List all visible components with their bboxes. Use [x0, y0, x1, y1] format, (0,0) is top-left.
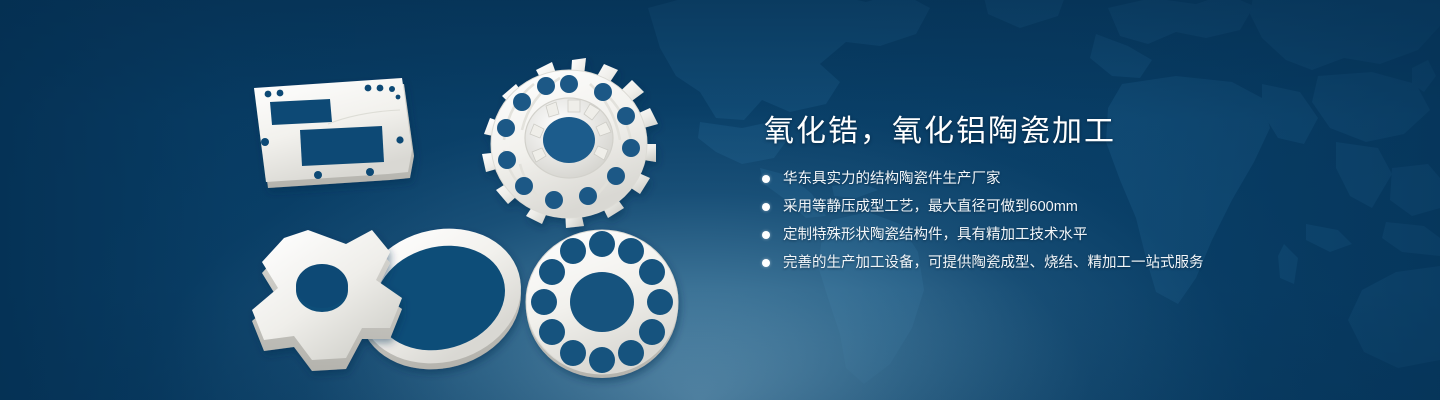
feature-item: 完善的生产加工设备，可提供陶瓷成型、烧结、精加工一站式服务 [762, 252, 1322, 274]
ceramic-perforated-disc [526, 230, 678, 378]
hero-banner: 氧化锆，氧化铝陶瓷加工 华东具实力的结构陶瓷件生产厂家 采用等静压成型工艺，最大… [0, 0, 1440, 400]
feature-text: 完善的生产加工设备，可提供陶瓷成型、烧结、精加工一站式服务 [783, 252, 1204, 274]
bullet-dot-icon [762, 175, 770, 183]
feature-text: 定制特殊形状陶瓷结构件，具有精加工技术水平 [783, 224, 1088, 246]
ceramic-products-image [232, 44, 692, 392]
feature-text: 采用等静压成型工艺，最大直径可做到600mm [783, 196, 1078, 218]
ceramic-plate-with-cutouts [254, 78, 414, 188]
feature-item: 华东具实力的结构陶瓷件生产厂家 [762, 168, 1322, 190]
feature-item: 采用等静压成型工艺，最大直径可做到600mm [762, 196, 1322, 218]
bullet-dot-icon [762, 259, 770, 267]
feature-text: 华东具实力的结构陶瓷件生产厂家 [783, 168, 1001, 190]
banner-copy: 氧化锆，氧化铝陶瓷加工 华东具实力的结构陶瓷件生产厂家 采用等静压成型工艺，最大… [762, 112, 1322, 280]
bullet-dot-icon [762, 231, 770, 239]
banner-headline: 氧化锆，氧化铝陶瓷加工 [764, 112, 1322, 152]
banner-feature-list: 华东具实力的结构陶瓷件生产厂家 采用等静压成型工艺，最大直径可做到600mm 定… [762, 168, 1322, 274]
ceramic-impeller-wheel [482, 58, 658, 228]
bullet-dot-icon [762, 203, 770, 211]
feature-item: 定制特殊形状陶瓷结构件，具有精加工技术水平 [762, 224, 1322, 246]
